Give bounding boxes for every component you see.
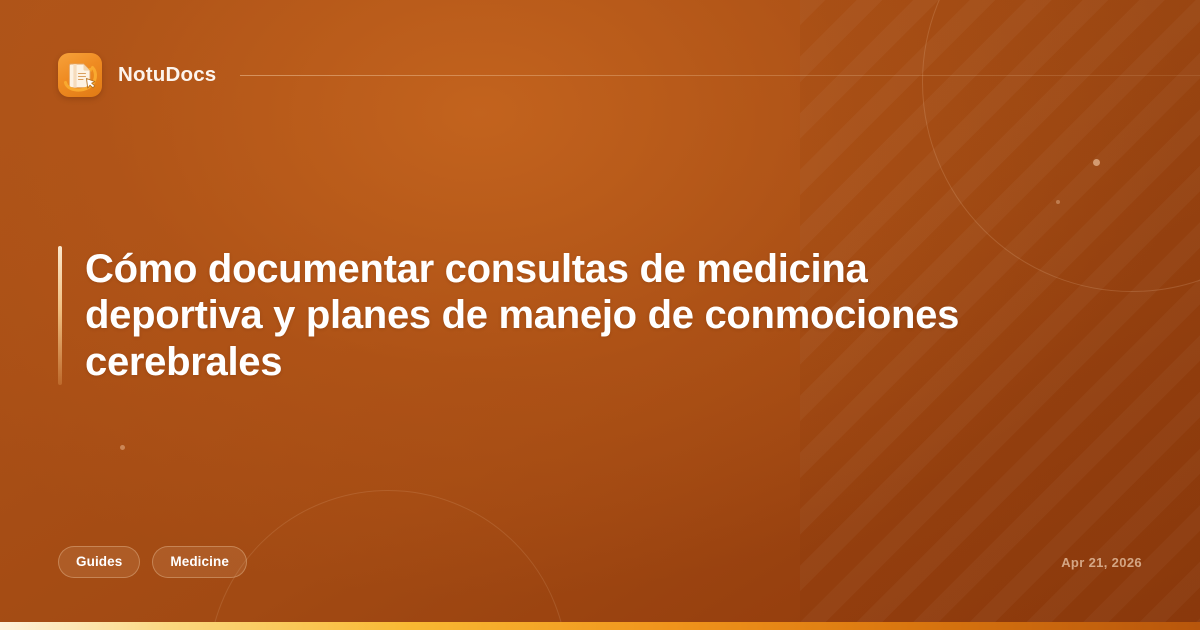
decorative-dot-small <box>1056 200 1060 204</box>
decorative-dot-left <box>120 445 125 450</box>
publish-date: Apr 21, 2026 <box>1061 555 1142 570</box>
brand-name: NotuDocs <box>118 63 216 87</box>
bottom-accent-bar <box>0 622 1200 630</box>
document-pen-cursor-icon <box>58 53 102 97</box>
title-accent-bar <box>58 246 62 385</box>
header-divider <box>240 75 1200 76</box>
page-title: Cómo documentar consultas de medicina de… <box>85 246 978 385</box>
title-block: Cómo documentar consultas de medicina de… <box>58 246 978 385</box>
tag-list: Guides Medicine <box>58 546 247 578</box>
card-header: NotuDocs <box>58 53 1200 97</box>
social-share-card: NotuDocs Cómo documentar consultas de me… <box>0 0 1200 630</box>
decorative-dot-large <box>1093 159 1100 166</box>
card-footer: Guides Medicine Apr 21, 2026 <box>58 546 1142 578</box>
tag-medicine[interactable]: Medicine <box>152 546 247 578</box>
tag-guides[interactable]: Guides <box>58 546 140 578</box>
